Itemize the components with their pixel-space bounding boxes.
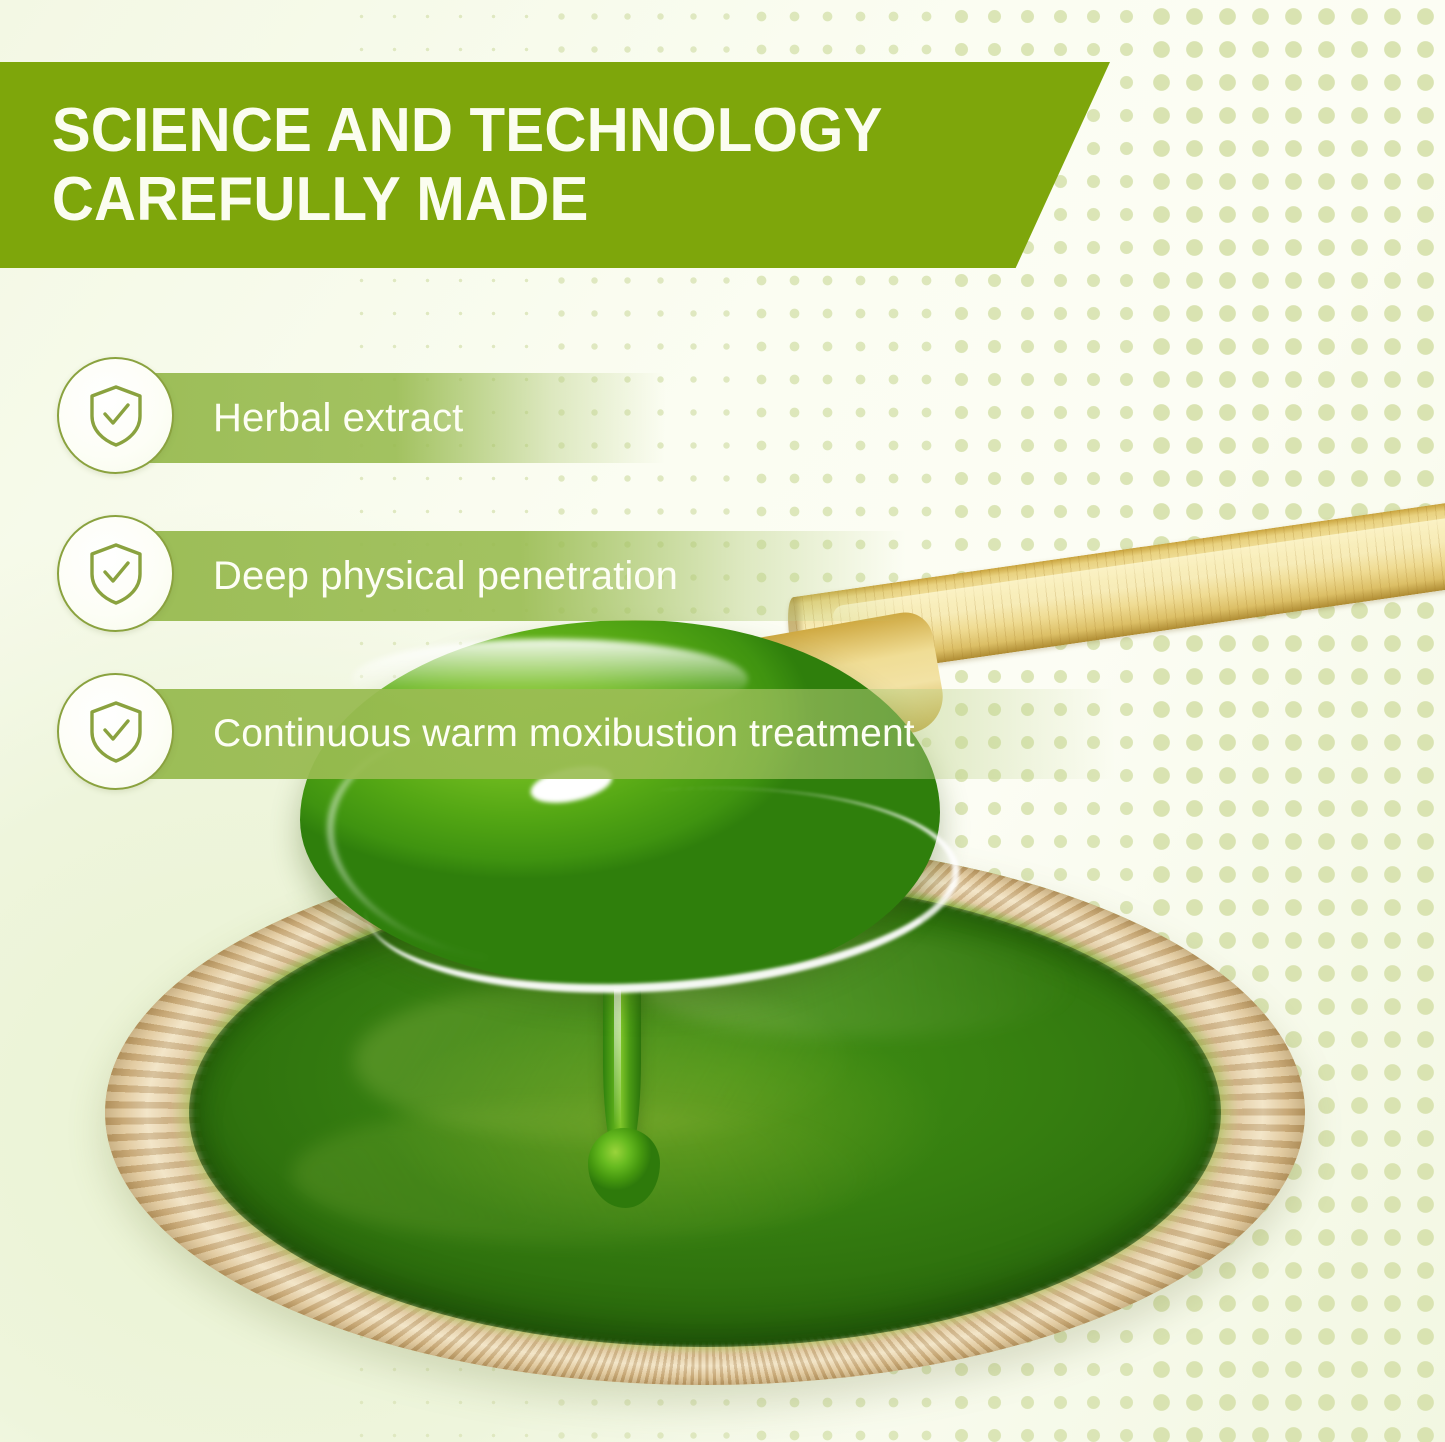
shield-check-glyph: [85, 383, 147, 449]
shield-check-icon: [57, 357, 174, 474]
product-feature-poster: SCIENCE AND TECHNOLOGY CAREFULLY MADE He…: [0, 0, 1445, 1442]
feature-label: Continuous warm moxibustion treatment: [213, 689, 915, 779]
feature-label: Deep physical penetration: [213, 531, 678, 621]
feature-item-deep-physical-penetration[interactable]: Deep physical penetration: [0, 513, 1120, 671]
feature-list: Herbal extract Deep physical penetration…: [0, 355, 1120, 829]
feature-item-herbal-extract[interactable]: Herbal extract: [0, 355, 1120, 513]
page-title: SCIENCE AND TECHNOLOGY CAREFULLY MADE: [0, 96, 883, 235]
feature-label: Herbal extract: [213, 373, 463, 463]
feature-item-continuous-warm-moxibustion-treatment[interactable]: Continuous warm moxibustion treatment: [0, 671, 1120, 829]
shield-check-glyph: [85, 699, 147, 765]
shield-check-icon: [57, 515, 174, 632]
headline-banner: SCIENCE AND TECHNOLOGY CAREFULLY MADE: [0, 62, 1110, 268]
shield-check-glyph: [85, 541, 147, 607]
shield-check-icon: [57, 673, 174, 790]
